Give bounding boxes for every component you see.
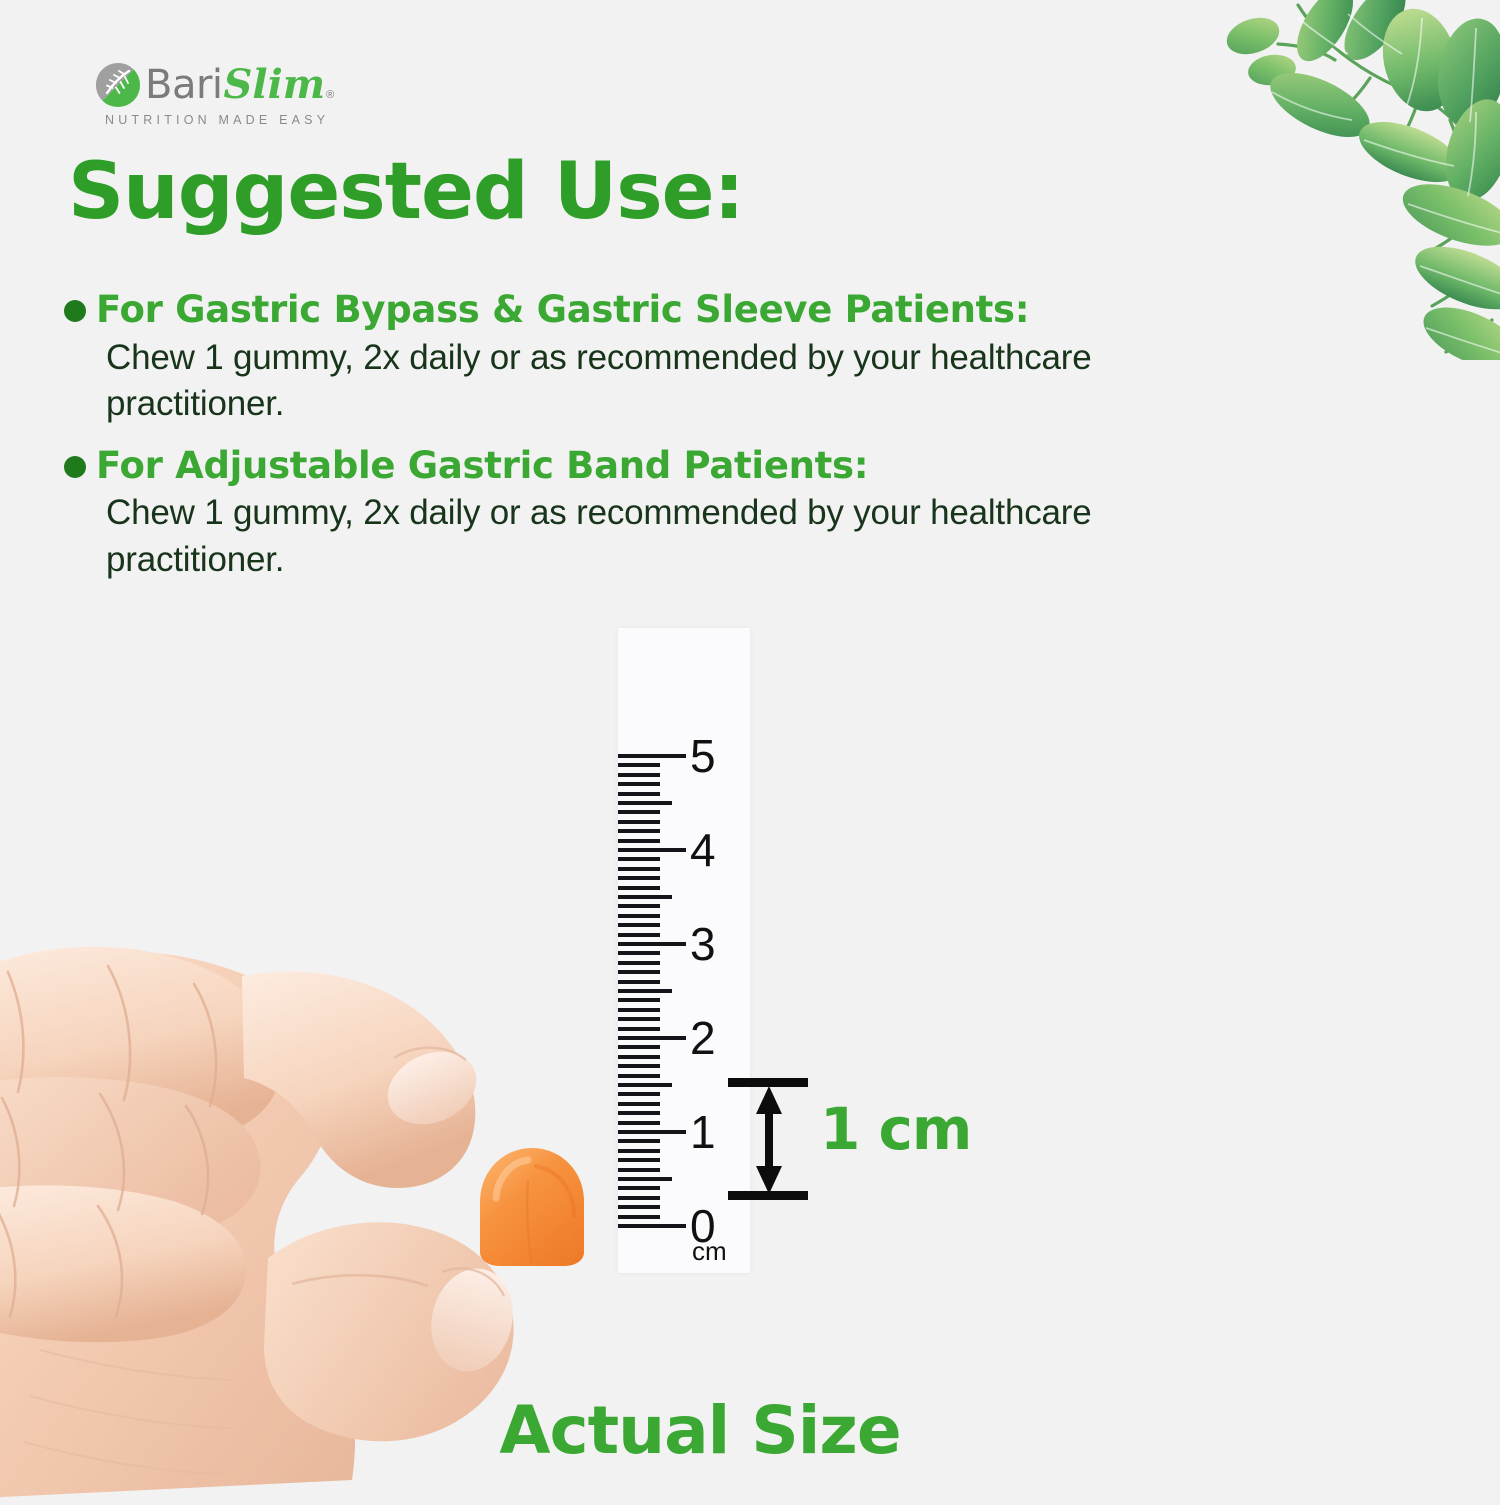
ruler-tick xyxy=(618,989,672,993)
bullet-icon xyxy=(64,456,86,478)
ruler-tick xyxy=(618,820,660,824)
ruler-tick xyxy=(618,857,660,861)
registered-mark: ® xyxy=(326,89,334,101)
ruler-tick xyxy=(618,1045,660,1049)
ruler-tick xyxy=(618,961,660,965)
ruler-tick xyxy=(618,1121,660,1125)
leaf-circle-icon xyxy=(95,62,141,108)
usage-heading: For Gastric Bypass & Gastric Sleeve Pati… xyxy=(96,288,1029,332)
ruler-number: 3 xyxy=(690,921,716,967)
logo-bari-text: Bari xyxy=(145,65,223,105)
brand-tagline: NUTRITION MADE EASY xyxy=(105,113,345,127)
ruler-tick xyxy=(618,829,660,833)
ruler-number: 2 xyxy=(690,1015,716,1061)
ruler-tick xyxy=(618,1036,686,1040)
bullet-icon xyxy=(64,300,86,322)
ruler-tick xyxy=(618,1139,660,1143)
ruler-tick xyxy=(618,942,686,946)
ruler-tick xyxy=(618,839,660,843)
ruler-tick xyxy=(618,980,660,984)
ruler-tick xyxy=(618,1008,660,1012)
one-cm-callout: 1 cm xyxy=(728,1078,978,1208)
page-title: Suggested Use: xyxy=(68,152,744,234)
usage-body: Chew 1 gummy, 2x daily or as recommended… xyxy=(106,335,1224,428)
ruler-tick xyxy=(618,1111,660,1115)
ruler-number: 5 xyxy=(690,733,716,779)
ruler-tick xyxy=(618,1017,660,1021)
ruler-tick xyxy=(618,1149,660,1153)
ruler-tick xyxy=(618,1168,660,1172)
ruler-tick xyxy=(618,923,660,927)
ruler-tick xyxy=(618,904,660,908)
list-item: For Gastric Bypass & Gastric Sleeve Pati… xyxy=(64,288,1224,428)
ruler-tick xyxy=(618,998,660,1002)
ruler-tick xyxy=(618,810,660,814)
ruler-tick xyxy=(618,895,672,899)
ruler-tick xyxy=(618,1186,660,1190)
brand-logo[interactable]: Bari Slim ® NUTRITION MADE EASY xyxy=(95,60,345,135)
ruler-tick xyxy=(618,1224,686,1228)
ruler-number: 4 xyxy=(690,827,716,873)
list-item: For Adjustable Gastric Band Patients: Ch… xyxy=(64,444,1224,584)
ruler-tick xyxy=(618,782,660,786)
one-cm-label: 1 cm xyxy=(820,1100,971,1158)
ruler-tick xyxy=(618,933,660,937)
ruler-tick xyxy=(618,848,686,852)
ruler-tick xyxy=(618,1196,660,1200)
ruler-tick xyxy=(618,754,686,758)
ruler-tick xyxy=(618,1055,660,1059)
ruler-tick xyxy=(618,1177,672,1181)
ruler-tick xyxy=(618,1027,660,1031)
page-canvas: Bari Slim ® NUTRITION MADE EASY Suggeste… xyxy=(0,0,1500,1500)
ruler-unit-label: cm xyxy=(692,1236,727,1267)
actual-size-label: Actual Size xyxy=(0,1392,1400,1469)
ruler-tick xyxy=(618,1064,660,1068)
usage-body: Chew 1 gummy, 2x daily or as recommended… xyxy=(106,490,1224,583)
ruler-tick xyxy=(618,1158,660,1162)
logo-wordmark: Bari Slim ® xyxy=(145,65,334,105)
ruler-tick xyxy=(618,1215,660,1219)
ruler-tick xyxy=(618,1092,660,1096)
usage-heading: For Adjustable Gastric Band Patients: xyxy=(96,444,868,488)
ruler-tick xyxy=(618,867,660,871)
ruler-tick xyxy=(618,914,660,918)
ruler-tick xyxy=(618,970,660,974)
ruler-tick xyxy=(618,773,660,777)
ruler-tick xyxy=(618,876,660,880)
ruler-tick xyxy=(618,1130,686,1134)
logo-slim-text: Slim xyxy=(224,65,326,105)
ruler-tick xyxy=(618,1205,660,1209)
ruler-tick xyxy=(618,763,660,767)
suggested-use-list: For Gastric Bypass & Gastric Sleeve Pati… xyxy=(64,288,1224,600)
ruler-tick xyxy=(618,1074,660,1078)
logo-row: Bari Slim ® xyxy=(95,60,345,110)
ruler-tick xyxy=(618,1083,672,1087)
ruler-tick xyxy=(618,951,660,955)
orange-gummy-dome xyxy=(480,1148,584,1266)
ruler-tick xyxy=(618,886,660,890)
usage-heading-row: For Gastric Bypass & Gastric Sleeve Pati… xyxy=(64,288,1224,332)
ruler-tick xyxy=(618,801,672,805)
ruler-tick xyxy=(618,1102,660,1106)
ruler-tick xyxy=(618,792,660,796)
double-headed-vertical-arrow-icon xyxy=(754,1084,784,1196)
ruler-number: 1 xyxy=(690,1109,716,1155)
usage-heading-row: For Adjustable Gastric Band Patients: xyxy=(64,444,1224,488)
